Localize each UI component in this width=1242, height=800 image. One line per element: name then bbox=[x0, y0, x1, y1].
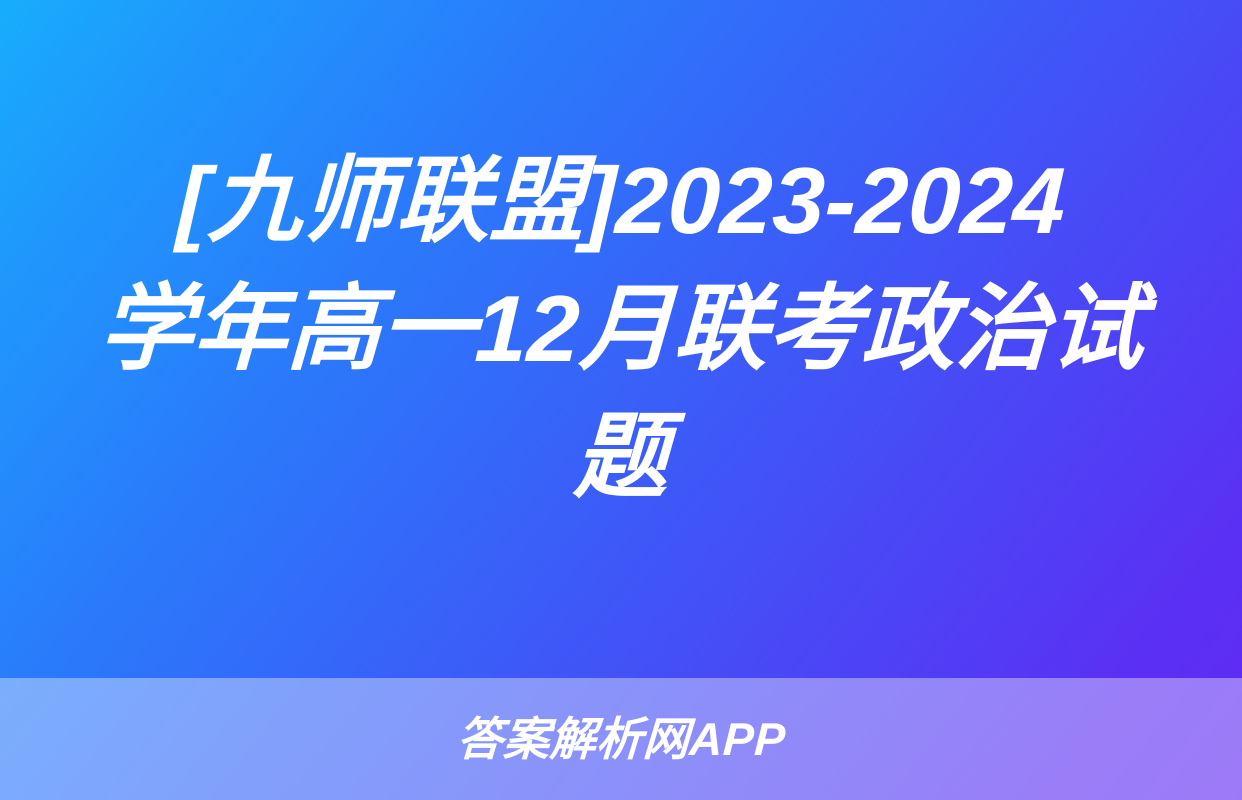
watermark-label: 答案解析网APP bbox=[455, 716, 786, 762]
title-line-3: 题 bbox=[572, 393, 670, 521]
page-title: [九师联盟]2023-2024 学年高一12月联考政治试 题 bbox=[0, 0, 1242, 678]
title-line-2: 学年高一12月联考政治试 bbox=[96, 265, 1145, 393]
watermark-band: 答案解析网APP bbox=[0, 678, 1242, 800]
title-line-1: [九师联盟]2023-2024 bbox=[175, 137, 1068, 265]
cover-page: [九师联盟]2023-2024 学年高一12月联考政治试 题 答案解析网APP bbox=[0, 0, 1242, 800]
